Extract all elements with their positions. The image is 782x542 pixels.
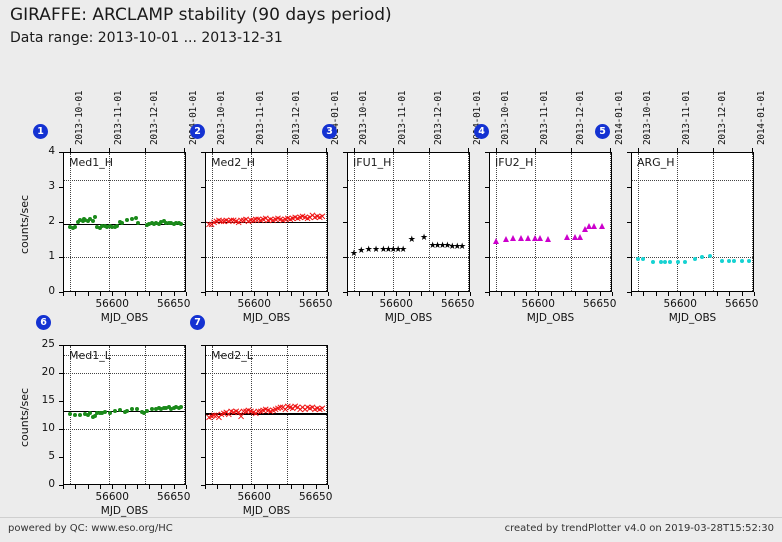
xtick-1-2 [88,292,89,296]
data-point [591,223,597,229]
gridline-h-4-0 [490,257,611,258]
xtick-3-0 [347,292,348,296]
date-tick-2-2 [287,148,288,152]
gridline-h-7-0 [206,429,327,430]
xtick-2-7 [291,292,292,296]
xtick-label-4-0: 56600 [516,298,560,310]
gridline-v-3-1 [393,153,394,291]
ytick-6-1 [59,457,63,458]
xtick-6-7 [149,485,150,489]
ytick-1-1 [59,257,63,258]
gridline-v-5-2 [713,153,714,291]
data-point [115,224,119,228]
xtick-1-0 [63,292,64,296]
plot-label-1: Med1_H [69,156,113,169]
data-point: ★ [408,236,416,245]
xtick-label-2-1: 56650 [294,298,338,310]
data-point [135,407,139,411]
data-point [503,236,509,242]
date-tick-label-2-1: 2013-11-01 [255,91,266,145]
data-point [740,259,744,263]
date-tick-2-1 [251,148,252,152]
date-tick-5-0 [638,148,639,152]
xtick-7-7 [291,485,292,489]
xtick-7-5 [267,485,268,489]
xaxis-title-5: MJD_OBS [653,312,733,324]
ytick-5-3 [627,187,631,188]
date-tick-label-3-1: 2013-11-01 [397,91,408,145]
date-tick-3-1 [393,148,394,152]
gridline-h-3-1 [348,180,469,181]
xtick-label-6-1: 56650 [152,491,196,503]
gridline-v-1-3 [184,153,185,291]
xtick-7-3 [242,485,243,489]
gridline-h-4-1 [490,180,611,181]
xtick-3-9 [458,292,459,296]
xtick-1-4 [112,292,113,296]
ytick-7-5 [201,345,205,346]
xtick-3-6 [421,292,422,296]
xtick-label-5-1: 56650 [720,298,764,310]
xtick-1-5 [125,292,126,296]
gridline-v-4-2 [571,153,572,291]
xaxis-title-2: MJD_OBS [227,312,307,324]
ytick-5-1 [627,257,631,258]
xaxis-title-6: MJD_OBS [85,505,165,517]
date-tick-1-0 [70,148,71,152]
data-point [493,238,499,244]
ytick-3-4 [343,152,347,153]
gridline-h-2-0 [206,257,327,258]
yaxis-title-1: counts/sec [18,195,31,254]
date-tick-4-1 [535,148,536,152]
data-point [545,236,551,242]
ytick-4-3 [485,187,489,188]
xtick-4-0 [489,292,490,296]
ytick-6-4 [59,373,63,374]
xaxis-title-3: MJD_OBS [369,312,449,324]
date-tick-4-3 [610,148,611,152]
plot-label-6: Med1_L [69,349,111,362]
xtick-1-1 [75,292,76,296]
date-tick-3-0 [354,148,355,152]
gridline-v-5-3 [752,153,753,291]
date-tick-2-0 [212,148,213,152]
xtick-3-10 [470,292,471,296]
xtick-7-4 [254,485,255,489]
xtick-5-5 [693,292,694,296]
data-point [659,260,663,264]
xtick-3-2 [372,292,373,296]
data-point [136,221,140,225]
ytick-label-1-2: 2 [29,215,55,227]
data-point [125,218,129,222]
xtick-3-3 [384,292,385,296]
date-tick-label-4-3: 2014-01-01 [614,91,625,145]
xtick-4-8 [587,292,588,296]
xtick-5-10 [754,292,755,296]
xtick-5-4 [680,292,681,296]
ytick-label-1-4: 4 [29,145,55,157]
ytick-1-2 [59,222,63,223]
ytick-label-6-4: 20 [29,366,55,378]
ytick-label-1-3: 3 [29,180,55,192]
page-header: GIRAFFE: ARCLAMP stability (90 days peri… [0,0,782,58]
xtick-6-5 [125,485,126,489]
ytick-6-5 [59,345,63,346]
xtick-6-0 [63,485,64,489]
ytick-7-1 [201,457,205,458]
xtick-7-10 [328,485,329,489]
panel-badge-5[interactable]: 5 [595,124,610,139]
xtick-4-4 [538,292,539,296]
xtick-1-10 [186,292,187,296]
ytick-5-0 [627,292,631,293]
date-tick-5-3 [752,148,753,152]
plot-label-2: Med2_H [211,156,255,169]
xaxis-title-4: MJD_OBS [511,312,591,324]
gridline-v-7-3 [326,346,327,484]
data-point [564,234,570,240]
xtick-7-6 [279,485,280,489]
date-tick-5-1 [677,148,678,152]
ytick-3-1 [343,257,347,258]
data-point [125,409,129,413]
panel-badge-4[interactable]: 4 [474,124,489,139]
xtick-3-4 [396,292,397,296]
ytick-2-4 [201,152,205,153]
date-tick-5-2 [713,148,714,152]
xtick-label-1-0: 56600 [90,298,134,310]
gridline-v-4-1 [535,153,536,291]
ytick-5-2 [627,222,631,223]
xtick-2-1 [217,292,218,296]
ytick-label-1-0: 0 [29,285,55,297]
gridline-v-4-0 [496,153,497,291]
gridline-v-1-0 [70,153,71,291]
xtick-2-9 [316,292,317,296]
ytick-4-1 [485,257,489,258]
xtick-2-0 [205,292,206,296]
data-point [518,235,524,241]
ytick-4-4 [485,152,489,153]
xtick-4-5 [551,292,552,296]
xtick-7-9 [316,485,317,489]
data-point [113,409,117,413]
date-tick-label-5-0: 2013-10-01 [642,91,653,145]
gridline-v-6-3 [184,346,185,484]
ytick-2-1 [201,257,205,258]
ytick-7-3 [201,401,205,402]
xtick-1-9 [174,292,175,296]
date-tick-label-1-0: 2013-10-01 [74,91,85,145]
trend-plot-page: GIRAFFE: ARCLAMP stability (90 days peri… [0,0,782,542]
xtick-2-10 [328,292,329,296]
xtick-7-8 [303,485,304,489]
xtick-5-2 [656,292,657,296]
xtick-5-7 [717,292,718,296]
xtick-7-1 [217,485,218,489]
gridline-v-3-0 [354,153,355,291]
plot-label-5: ARG_H [637,156,674,169]
ytick-2-0 [201,292,205,293]
gridline-h-2-1 [206,180,327,181]
ytick-label-6-1: 5 [29,450,55,462]
ytick-label-6-3: 15 [29,394,55,406]
ytick-3-0 [343,292,347,293]
xtick-5-0 [631,292,632,296]
data-point [693,257,697,261]
data-point [577,234,583,240]
date-tick-label-3-0: 2013-10-01 [358,91,369,145]
date-tick-label-4-0: 2013-10-01 [500,91,511,145]
yaxis-title-6: counts/sec [18,388,31,447]
xtick-label-2-0: 56600 [232,298,276,310]
xtick-label-3-0: 56600 [374,298,418,310]
date-tick-label-2-0: 2013-10-01 [216,91,227,145]
ytick-label-6-0: 0 [29,478,55,490]
ytick-2-3 [201,187,205,188]
gridline-h-6-1 [64,373,185,374]
xaxis-title-1: MJD_OBS [85,312,165,324]
ytick-4-0 [485,292,489,293]
footer-divider [0,517,782,518]
date-tick-label-4-1: 2013-11-01 [539,91,550,145]
data-point [599,223,605,229]
data-point: ★ [420,234,428,243]
xtick-6-2 [88,485,89,489]
xtick-4-1 [501,292,502,296]
ytick-label-6-5: 25 [29,338,55,350]
xtick-label-7-0: 56600 [232,491,276,503]
xtick-label-6-0: 56600 [90,491,134,503]
ytick-3-3 [343,187,347,188]
xtick-4-3 [526,292,527,296]
data-point [525,235,531,241]
ytick-4-2 [485,222,489,223]
xtick-6-10 [186,485,187,489]
xtick-3-5 [409,292,410,296]
xaxis-title-7: MJD_OBS [227,505,307,517]
date-tick-2-3 [326,148,327,152]
plot-label-7: Med2_L [211,349,253,362]
data-point [134,216,138,220]
xtick-7-2 [230,485,231,489]
gridline-v-5-0 [638,153,639,291]
data-point [108,411,112,415]
xtick-5-1 [643,292,644,296]
date-tick-label-1-2: 2013-12-01 [149,91,160,145]
page-subtitle: Data range: 2013-10-01 ... 2013-12-31 [10,30,283,46]
date-tick-1-1 [109,148,110,152]
xtick-6-3 [100,485,101,489]
footer-credit-right: created by trendPlotter v4.0 on 2019-03-… [505,523,774,534]
data-point: ★ [458,243,466,252]
gridline-v-6-2 [145,346,146,484]
ytick-1-0 [59,292,63,293]
xtick-label-3-1: 56650 [436,298,480,310]
panel-badge-3[interactable]: 3 [322,124,337,139]
xtick-label-1-1: 56650 [152,298,196,310]
ytick-label-1-1: 1 [29,250,55,262]
date-tick-label-5-2: 2013-12-01 [717,91,728,145]
plot-label-3: IFU1_H [353,156,391,169]
xtick-7-0 [205,485,206,489]
gridline-v-3-3 [468,153,469,291]
gridline-h-5-1 [632,180,753,181]
data-point [91,219,95,223]
plot-label-4: IFU2_H [495,156,533,169]
xtick-1-3 [100,292,101,296]
ytick-1-4 [59,152,63,153]
date-tick-label-1-1: 2013-11-01 [113,91,124,145]
date-tick-label-5-3: 2014-01-01 [756,91,767,145]
ytick-7-2 [201,429,205,430]
xtick-2-2 [230,292,231,296]
data-point [537,235,543,241]
date-tick-label-3-2: 2013-12-01 [433,91,444,145]
xtick-4-9 [600,292,601,296]
ytick-5-4 [627,152,631,153]
ytick-6-3 [59,401,63,402]
xtick-2-6 [279,292,280,296]
gridline-v-5-1 [677,153,678,291]
xtick-2-3 [242,292,243,296]
xtick-label-5-0: 56600 [658,298,702,310]
data-point [179,405,183,409]
data-point [103,410,107,414]
panel-badge-2[interactable]: 2 [190,124,205,139]
plot-frame-3 [347,152,470,292]
date-tick-3-3 [468,148,469,152]
xtick-6-9 [174,485,175,489]
ytick-2-2 [201,222,205,223]
xtick-5-3 [668,292,669,296]
xtick-label-4-1: 56650 [578,298,622,310]
data-point [676,260,680,264]
xtick-6-1 [75,485,76,489]
ytick-7-4 [201,373,205,374]
data-point: ★ [399,246,407,255]
gridline-v-1-1 [109,153,110,291]
panel-badge-7[interactable]: 7 [190,315,205,330]
xtick-1-7 [149,292,150,296]
ytick-7-0 [201,485,205,486]
xtick-label-7-1: 56650 [294,491,338,503]
panel-badge-1[interactable]: 1 [33,124,48,139]
data-point [510,235,516,241]
date-tick-4-2 [571,148,572,152]
xtick-4-2 [514,292,515,296]
xtick-6-8 [161,485,162,489]
xtick-2-4 [254,292,255,296]
data-point [179,222,183,226]
gridline-h-7-1 [206,373,327,374]
gridline-v-4-3 [610,153,611,291]
gridline-h-1-0 [64,257,185,258]
date-tick-4-0 [496,148,497,152]
xtick-5-6 [705,292,706,296]
footer-credit-left: powered by QC: www.eso.org/HC [8,523,173,534]
gridline-h-1-1 [64,180,185,181]
gridline-v-3-2 [429,153,430,291]
gridline-h-6-0 [64,429,185,430]
xtick-4-6 [563,292,564,296]
date-tick-label-2-2: 2013-12-01 [291,91,302,145]
xtick-2-5 [267,292,268,296]
date-tick-1-2 [145,148,146,152]
gridline-v-6-1 [109,346,110,484]
xtick-3-8 [445,292,446,296]
date-tick-label-5-1: 2013-11-01 [681,91,692,145]
xtick-2-8 [303,292,304,296]
xtick-1-6 [137,292,138,296]
data-point: ✕ [318,213,326,223]
xtick-6-6 [137,485,138,489]
xtick-5-8 [729,292,730,296]
date-tick-3-2 [429,148,430,152]
panel-badge-6[interactable]: 6 [36,315,51,330]
xtick-3-7 [433,292,434,296]
ytick-1-3 [59,187,63,188]
page-title: GIRAFFE: ARCLAMP stability (90 days peri… [10,5,392,25]
date-tick-label-4-2: 2013-12-01 [575,91,586,145]
ytick-6-0 [59,485,63,486]
data-point [145,409,149,413]
ytick-label-6-2: 10 [29,422,55,434]
data-point [118,408,122,412]
xtick-4-10 [612,292,613,296]
xtick-6-4 [112,485,113,489]
date-tick-1-3 [184,148,185,152]
xtick-5-9 [742,292,743,296]
xtick-4-7 [575,292,576,296]
xtick-1-8 [161,292,162,296]
gridline-h-3-0 [348,257,469,258]
plot-frame-5 [631,152,754,292]
data-point: ✕ [318,405,326,415]
ytick-3-2 [343,222,347,223]
xtick-3-1 [359,292,360,296]
ytick-6-2 [59,429,63,430]
